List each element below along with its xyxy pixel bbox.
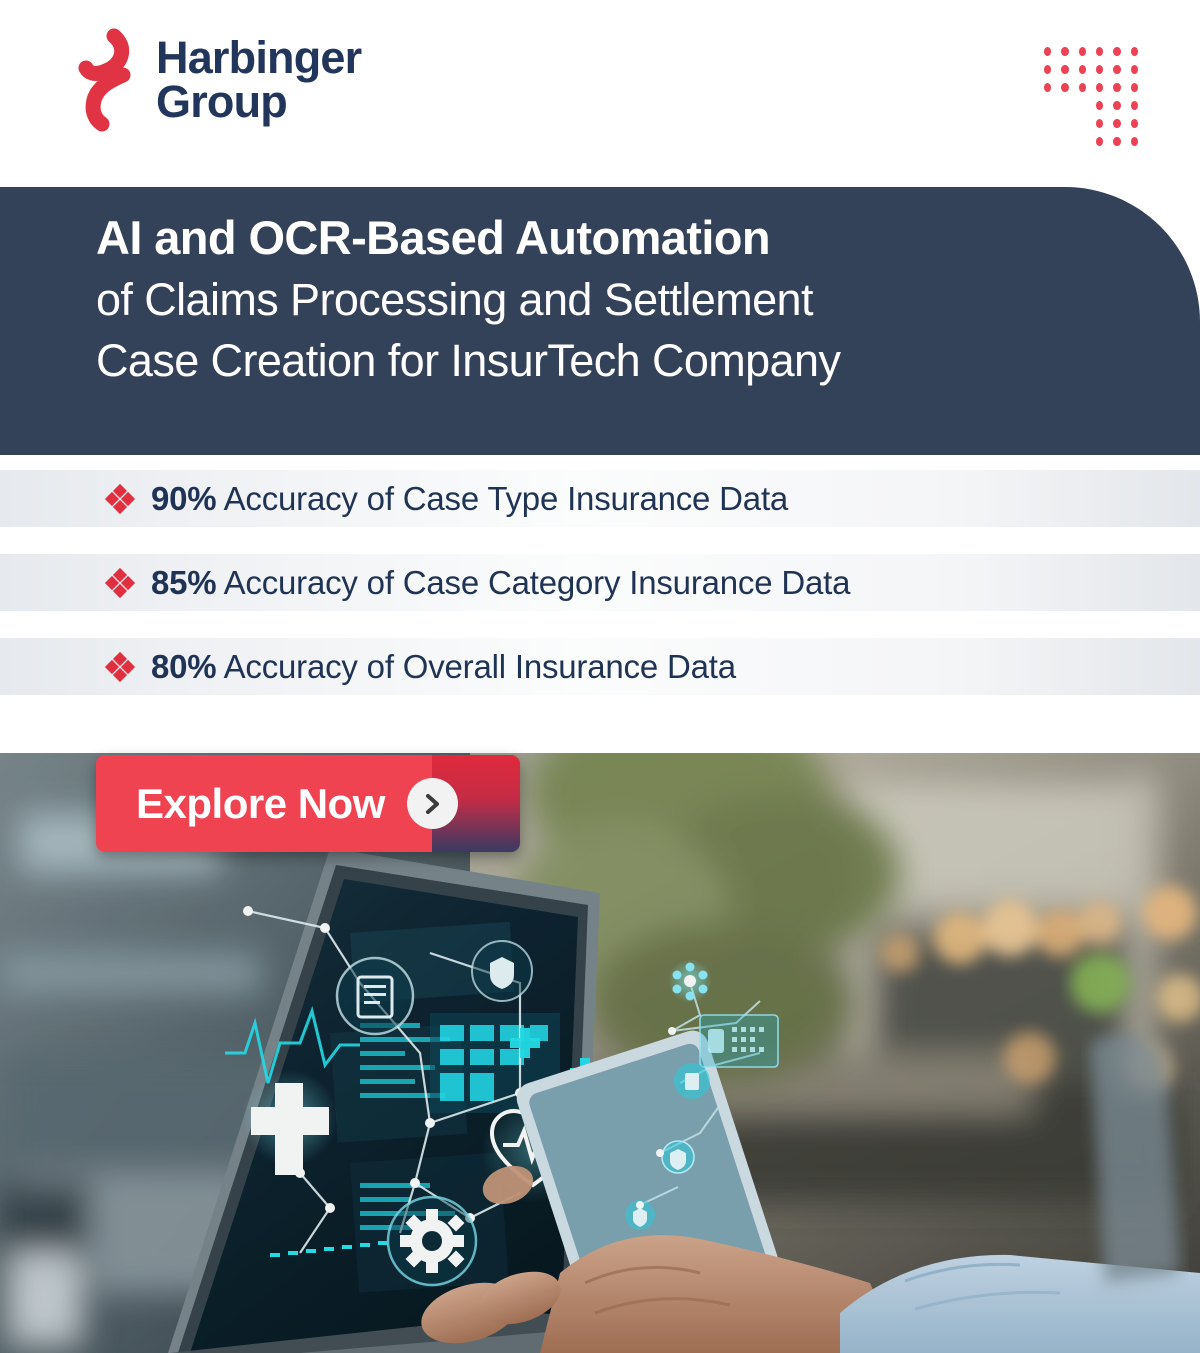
- highlight-value: 85%: [151, 564, 216, 601]
- dot-grid-icon: [1034, 47, 1138, 155]
- dot-grid-row: [1034, 83, 1138, 101]
- dot-grid-row: [1034, 101, 1138, 119]
- diamond-cluster-icon: [107, 486, 133, 512]
- headline-line-1: AI and OCR-Based Automation: [96, 207, 1080, 269]
- dot-grid-row: [1034, 137, 1138, 155]
- chevron-right-icon[interactable]: [407, 778, 458, 829]
- dot-grid-row: [1034, 47, 1138, 65]
- dot-grid-row: [1034, 65, 1138, 83]
- dot-grid-row: [1034, 119, 1138, 137]
- list-item: 85% Accuracy of Case Category Insurance …: [0, 554, 1200, 611]
- headline-band: AI and OCR-Based Automation of Claims Pr…: [0, 187, 1200, 455]
- header: Harbinger Group: [0, 0, 1200, 187]
- highlight-value: 90%: [151, 480, 216, 517]
- highlights-list: 90% Accuracy of Case Type Insurance Data…: [0, 470, 1200, 722]
- highlight-label: Accuracy of Overall Insurance Data: [216, 648, 735, 685]
- logo-text-line1: Harbinger: [156, 36, 361, 80]
- brand-logo[interactable]: Harbinger Group: [76, 28, 361, 132]
- highlight-label: Accuracy of Case Category Insurance Data: [216, 564, 850, 601]
- harbinger-squiggle-icon: [76, 28, 142, 132]
- headline-line-3: Case Creation for InsurTech Company: [96, 330, 1080, 391]
- marketing-banner: Harbinger Group: [0, 0, 1200, 1353]
- headline-line-2: of Claims Processing and Settlement: [96, 269, 1080, 330]
- highlight-text: 90% Accuracy of Case Type Insurance Data: [151, 480, 788, 518]
- cta-label: Explore Now: [136, 780, 385, 828]
- explore-now-button[interactable]: Explore Now: [96, 755, 520, 852]
- highlight-text: 85% Accuracy of Case Category Insurance …: [151, 564, 850, 602]
- logo-text-line2: Group: [156, 80, 361, 124]
- diamond-cluster-icon: [107, 654, 133, 680]
- highlight-text: 80% Accuracy of Overall Insurance Data: [151, 648, 736, 686]
- list-item: 80% Accuracy of Overall Insurance Data: [0, 638, 1200, 695]
- highlight-label: Accuracy of Case Type Insurance Data: [216, 480, 788, 517]
- page-title: AI and OCR-Based Automation of Claims Pr…: [96, 207, 1080, 391]
- highlight-value: 80%: [151, 648, 216, 685]
- diamond-cluster-icon: [107, 570, 133, 596]
- list-item: 90% Accuracy of Case Type Insurance Data: [0, 470, 1200, 527]
